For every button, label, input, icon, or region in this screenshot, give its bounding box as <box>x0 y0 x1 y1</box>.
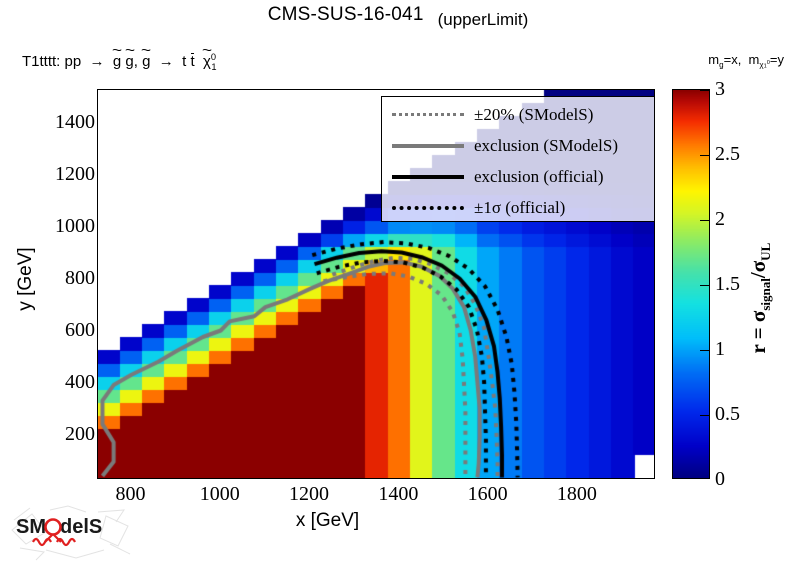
colorbar-tick <box>700 90 709 91</box>
smodels-logo: SM delS <box>6 500 134 562</box>
colorbar-tick <box>700 155 709 156</box>
colorbar-tick-label: 2 <box>715 209 725 229</box>
colorbar-tick-label: 1.5 <box>715 274 740 294</box>
legend-item[interactable]: ±1σ (official) <box>382 192 654 223</box>
colorbar <box>672 89 710 479</box>
x-axis-tick-label: 1200 <box>289 484 329 504</box>
legend-key-dotted-black <box>382 206 474 210</box>
colorbar-tick <box>700 220 709 221</box>
colorbar-tick <box>700 415 709 416</box>
process-formula: pp → g g, g → t t χ01 <box>65 53 217 70</box>
result-type: (upperLimit) <box>438 10 529 29</box>
legend-key-solid-grey <box>382 144 474 148</box>
legend-item[interactable]: ±20% (SModelS) <box>382 99 654 130</box>
y-axis-tick-label: 200 <box>65 424 95 444</box>
legend-item-label: ±1σ (official) <box>474 199 565 216</box>
y-axis-tick-label: 800 <box>65 268 95 288</box>
x-axis-tick-label: 1000 <box>200 484 240 504</box>
x-axis-tick-label: 1800 <box>557 484 597 504</box>
process-label: T1tttt: pp → g g, g → t t χ01 <box>22 52 217 72</box>
legend-item-label: exclusion (SModelS) <box>474 137 618 154</box>
legend-item[interactable]: exclusion (SModelS) <box>382 130 654 161</box>
colorbar-tick-label: 3 <box>715 79 725 99</box>
legend-item-label: exclusion (official) <box>474 168 604 185</box>
legend-item-label: ±20% (SModelS) <box>474 106 593 123</box>
x-axis-tick-label: 1600 <box>468 484 508 504</box>
y-axis-tick-label: 1200 <box>55 164 95 184</box>
legend-line-swatch <box>392 113 464 116</box>
x-axis-tick-label: 1400 <box>378 484 418 504</box>
colorbar-title: r = σsignal/σUL <box>746 178 774 418</box>
colorbar-gradient <box>673 90 709 478</box>
y-axis-tick-label: 1400 <box>55 112 95 132</box>
y-axis-tick-label: 400 <box>65 372 95 392</box>
legend-key-solid-black <box>382 175 474 179</box>
legend-line-swatch <box>392 206 464 210</box>
svg-text:SM: SM <box>16 516 46 538</box>
colorbar-tick <box>700 350 709 351</box>
legend-item[interactable]: exclusion (official) <box>382 161 654 192</box>
legend-key-dotted-grey <box>382 113 474 116</box>
legend-line-swatch <box>392 175 464 179</box>
page-title: CMS-SUS-16-041(upperLimit) <box>0 4 796 30</box>
legend-line-swatch <box>392 144 464 148</box>
topology-name: T1tttt: <box>22 53 60 70</box>
analysis-id: CMS-SUS-16-041 <box>268 4 424 25</box>
y-axis-tick-label: 600 <box>65 320 95 340</box>
colorbar-tick-label: 2.5 <box>715 144 740 164</box>
colorbar-tick <box>700 285 709 286</box>
svg-text:delS: delS <box>60 516 102 538</box>
colorbar-tick-label: 0 <box>715 469 725 489</box>
colorbar-tick-label: 0.5 <box>715 404 740 424</box>
colorbar-tick <box>700 478 709 479</box>
mass-assignment-label: mg=x, mχ10=y <box>708 52 784 70</box>
y-axis-tick-label: 1000 <box>55 216 95 236</box>
y-axis-title: y [GeV] <box>15 159 37 399</box>
colorbar-tick-label: 1 <box>715 339 725 359</box>
legend-box: ±20% (SModelS)exclusion (SModelS)exclusi… <box>381 96 655 222</box>
